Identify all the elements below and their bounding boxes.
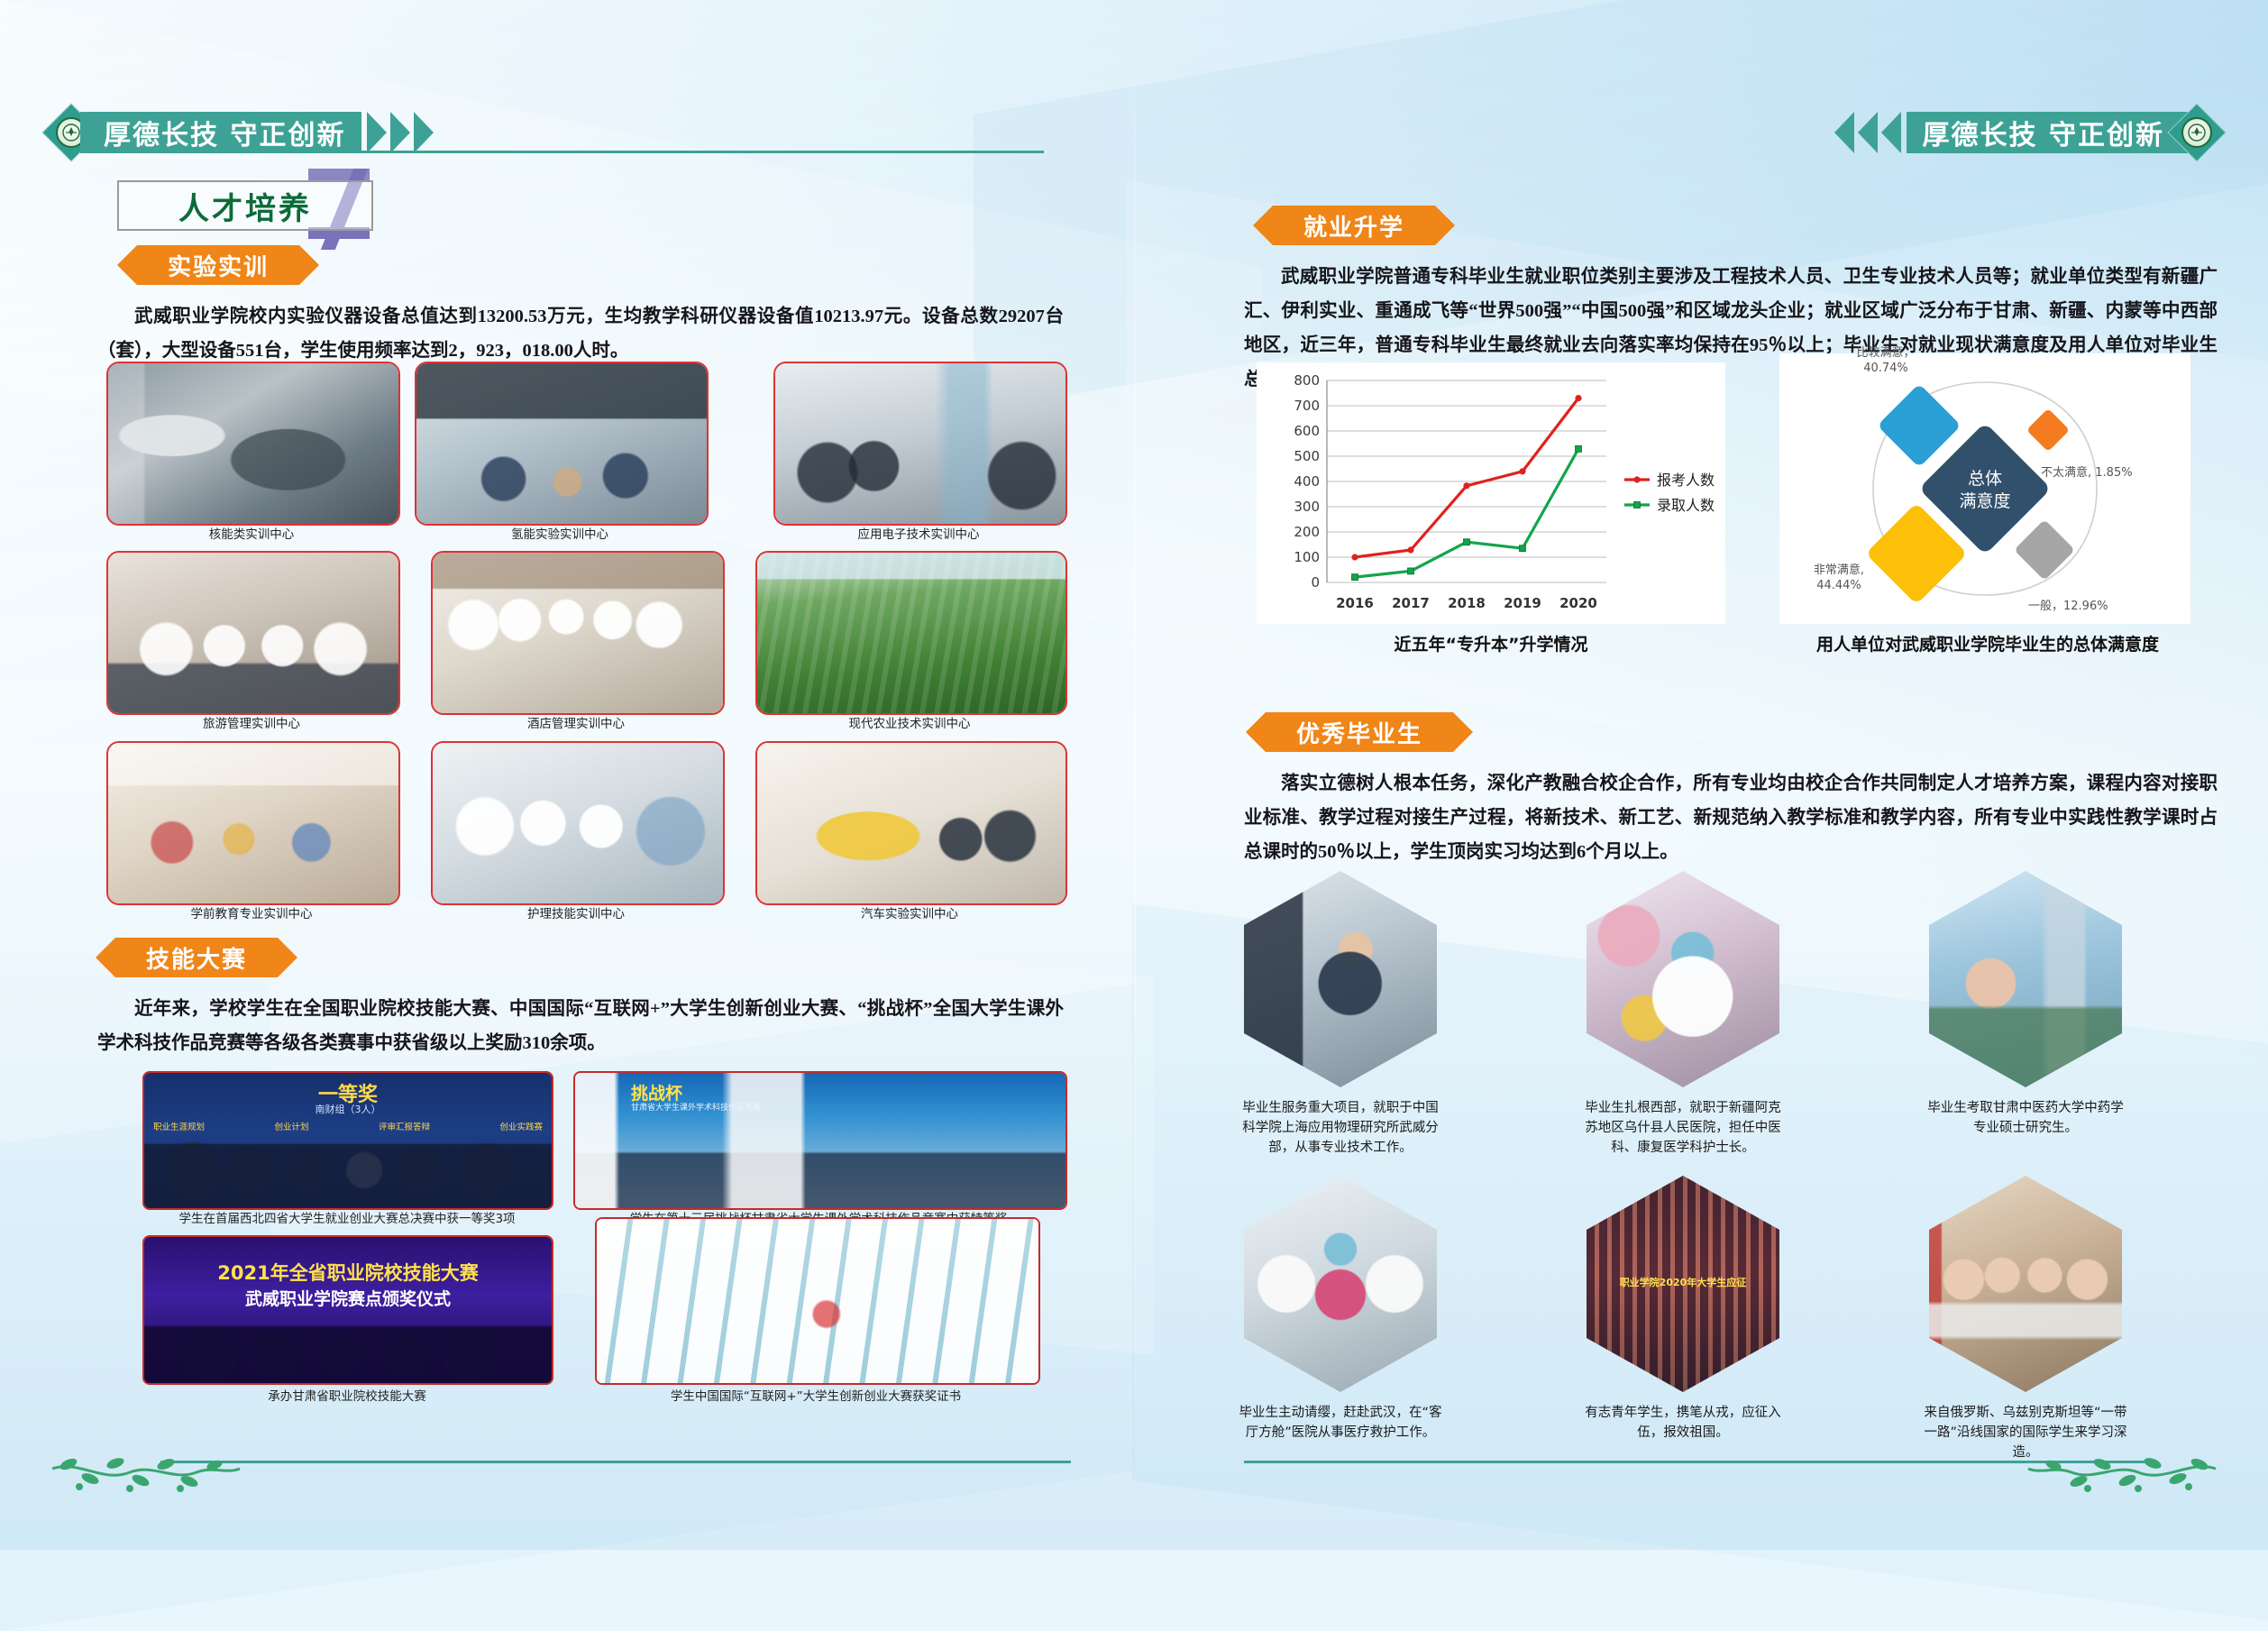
chart-promotion-line: 800 700 600 500 400 300 200 100 0 2016 2…: [1257, 362, 1725, 624]
caption-lab-9: 汽车实验实训中心: [755, 906, 1064, 922]
graduate-photo-2: [1587, 871, 1779, 1087]
caption-lab-3: 应用电子技术实训中心: [773, 527, 1064, 543]
svg-text:600: 600: [1294, 423, 1320, 439]
poster-2-line2: 甘肃省大学生课外学术科技作品竞赛: [631, 1101, 761, 1113]
graduate-caption-1: 毕业生服务重大项目，就职于中国科学院上海应用物理研究所武威分部，从事专业技术工作…: [1237, 1098, 1444, 1158]
slice-blue: [1877, 383, 1961, 467]
poster-1-col-2: 创业计划: [274, 1120, 308, 1132]
photo-lab-2: [415, 362, 709, 526]
graduate-caption-4: 毕业生主动请缨，赶赴武汉，在“客厅方舱”医院从事医疗救护工作。: [1237, 1403, 1444, 1443]
photo-competition-3: 2021年全省职业院校技能大赛 武威职业学院赛点颁奖仪式: [142, 1235, 553, 1385]
svg-text:0: 0: [1311, 574, 1320, 591]
caption-lab-7: 学前教育专业实训中心: [106, 906, 397, 922]
header-chevrons-right: [1834, 112, 1905, 153]
header-rule-left: [252, 151, 1044, 153]
photo-lab-9: [755, 741, 1067, 905]
header-banner-right: 厚德长技 守正创新: [1834, 112, 2218, 153]
header-motto-left: 厚德长技 守正创新: [104, 113, 345, 152]
main-title-talent-cultivation: 人才培养: [117, 180, 373, 231]
graduate-caption-2: 毕业生扎根西部，就职于新疆阿克苏地区乌什县人民医院，担任中医科、康复医学科护士长…: [1579, 1098, 1787, 1158]
satisfaction-label-yellow-value: 44.44%: [1816, 579, 1861, 592]
poster-1-col-3: 评审汇报答辩: [379, 1120, 430, 1132]
slice-grey: [2014, 519, 2075, 581]
paragraph-skill-competition: 近年来，学校学生在全国职业院校技能大赛、中国国际“互联网+”大学生创新创业大赛、…: [97, 992, 1064, 1060]
graduate-photo-5: 职业学院2020年大学生应征: [1587, 1176, 1779, 1392]
satisfaction-label-yellow-name: 非常满意,: [1814, 564, 1864, 577]
graduate-photo-1: [1244, 871, 1437, 1087]
paragraph-lab-training: 武威职业学院校内实验仪器设备总值达到13200.53万元，生均教学科研仪器设备值…: [97, 299, 1064, 368]
ribbon-employment-label: 就业升学: [1303, 209, 1404, 243]
caption-lab-1: 核能类实训中心: [106, 527, 397, 543]
header-banner-left: 厚德长技 守正创新: [50, 112, 434, 153]
graduate-caption-3: 毕业生考取甘肃中医药大学中药学专业硕士研究生。: [1922, 1098, 2129, 1138]
poster-1-col-4: 创业实践赛: [499, 1120, 543, 1132]
graduate-caption-5: 有志青年学生，携笔从戎，应征入伍，报效祖国。: [1579, 1403, 1787, 1443]
header-motto-bar-left: 厚德长技 守正创新: [80, 112, 361, 153]
graduate-banner-text: 职业学院2020年大学生应征: [1587, 1275, 1779, 1289]
footer-vine-left-icon: [47, 1456, 254, 1503]
ribbon-employment: 就业升学: [1273, 206, 1435, 245]
satisfaction-label-orange: 不太满意, 1.85%: [2041, 463, 2133, 480]
svg-text:300: 300: [1294, 499, 1320, 515]
chart-legend: 报考人数 录取人数: [1624, 472, 1715, 514]
svg-text:2016: 2016: [1336, 595, 1374, 611]
satisfaction-label-blue-value: 40.74%: [1863, 362, 1908, 375]
graduate-caption-6: 来自俄罗斯、乌兹别克斯坦等“一带一路”沿线国家的国际学生来学习深造。: [1922, 1403, 2129, 1462]
svg-text:2019: 2019: [1504, 595, 1541, 611]
svg-text:100: 100: [1294, 549, 1320, 565]
photo-lab-3: [773, 362, 1067, 526]
caption-competition-4: 学生中国国际“互联网+”大学生创新创业大赛获奖证书: [590, 1388, 1042, 1405]
satisfaction-label-grey: 一般，12.96%: [2028, 596, 2108, 613]
satisfaction-label-blue-name: 比较满意，: [1856, 346, 1915, 360]
svg-text:700: 700: [1294, 398, 1320, 414]
paragraph-outstanding-graduates: 落实立德树人根本任务，深化产教融合校企合作，所有专业均由校企合作共同制定人才培养…: [1244, 766, 2218, 869]
ribbon-skill-competition: 技能大赛: [115, 938, 278, 977]
photo-competition-1: 一等奖 南财组（3人） 职业生涯规划 创业计划 评审汇报答辩 创业实践赛: [142, 1071, 553, 1210]
svg-text:200: 200: [1294, 524, 1320, 540]
photo-competition-2: 挑战杯 甘肃省大学生课外学术科技作品竞赛: [573, 1071, 1067, 1210]
photo-lab-5: [431, 551, 725, 715]
ribbon-lab-training: 实验实训: [137, 245, 299, 285]
caption-competition-1: 学生在首届西北四省大学生就业创业大赛总决赛中获一等奖3项: [135, 1211, 559, 1227]
ribbon-outstanding-graduates-label: 优秀毕业生: [1296, 716, 1422, 749]
header-chevrons-left: [363, 112, 434, 153]
satisfaction-label-yellow: 非常满意, 44.44%: [1785, 563, 1893, 593]
svg-text:报考人数: 报考人数: [1657, 472, 1715, 489]
svg-text:2020: 2020: [1559, 595, 1597, 611]
photo-lab-1: [106, 362, 400, 526]
footer-rule-left: [160, 1461, 1071, 1463]
satisfaction-center-line2: 满意度: [1959, 491, 2010, 511]
graduate-photo-4: [1244, 1176, 1437, 1392]
main-title-text: 人才培养: [178, 184, 312, 228]
satisfaction-label-blue: 比较满意， 40.74%: [1827, 345, 1944, 376]
svg-text:400: 400: [1294, 473, 1320, 490]
slice-orange: [2026, 408, 2070, 452]
header-motto-right: 厚德长技 守正创新: [1923, 113, 2164, 152]
graduate-photo-6: [1929, 1176, 2122, 1392]
graduate-photo-3: [1929, 871, 2122, 1087]
caption-competition-3: 承办甘肃省职业院校技能大赛: [135, 1388, 559, 1405]
poster-3-line1: 2021年全省职业院校技能大赛: [144, 1259, 552, 1286]
svg-text:800: 800: [1294, 372, 1320, 389]
photo-lab-4: [106, 551, 400, 715]
caption-lab-8: 护理技能实训中心: [431, 906, 721, 922]
svg-text:2018: 2018: [1448, 595, 1486, 611]
poster-1-col-1: 职业生涯规划: [153, 1120, 205, 1132]
svg-text:500: 500: [1294, 448, 1320, 464]
poster-1-subtitle: 南财组（3人）: [144, 1102, 552, 1116]
ribbon-skill-competition-label: 技能大赛: [146, 941, 247, 975]
emblem-glyph-icon-right: [2188, 124, 2206, 142]
svg-text:2017: 2017: [1392, 595, 1430, 611]
emblem-glyph-icon: [62, 124, 80, 142]
chart-promotion-svg: 800 700 600 500 400 300 200 100 0 2016 2…: [1257, 362, 1725, 624]
caption-lab-2: 氢能实验实训中心: [415, 527, 705, 543]
page-gutter: [1134, 0, 1136, 1550]
ribbon-outstanding-graduates: 优秀毕业生: [1266, 712, 1453, 752]
caption-lab-4: 旅游管理实训中心: [106, 716, 397, 732]
svg-text:录取人数: 录取人数: [1657, 497, 1715, 514]
caption-lab-6: 现代农业技术实训中心: [755, 716, 1064, 732]
photo-lab-7: [106, 741, 400, 905]
header-motto-bar-right: 厚德长技 守正创新: [1907, 112, 2188, 153]
chart-satisfaction-caption: 用人单位对武威职业学院毕业生的总体满意度: [1767, 631, 2209, 655]
caption-lab-5: 酒店管理实训中心: [431, 716, 721, 732]
photo-lab-8: [431, 741, 725, 905]
photo-lab-6: [755, 551, 1067, 715]
footer-vine-right-icon: [2014, 1456, 2221, 1503]
photo-competition-4: [595, 1217, 1040, 1385]
poster-3-line2: 武威职业学院赛点颁奖仪式: [144, 1286, 552, 1310]
ribbon-lab-training-label: 实验实训: [168, 249, 269, 282]
chart-promotion-caption: 近五年“专升本”升学情况: [1257, 631, 1725, 655]
satisfaction-center-line1: 总体: [1968, 469, 2002, 489]
